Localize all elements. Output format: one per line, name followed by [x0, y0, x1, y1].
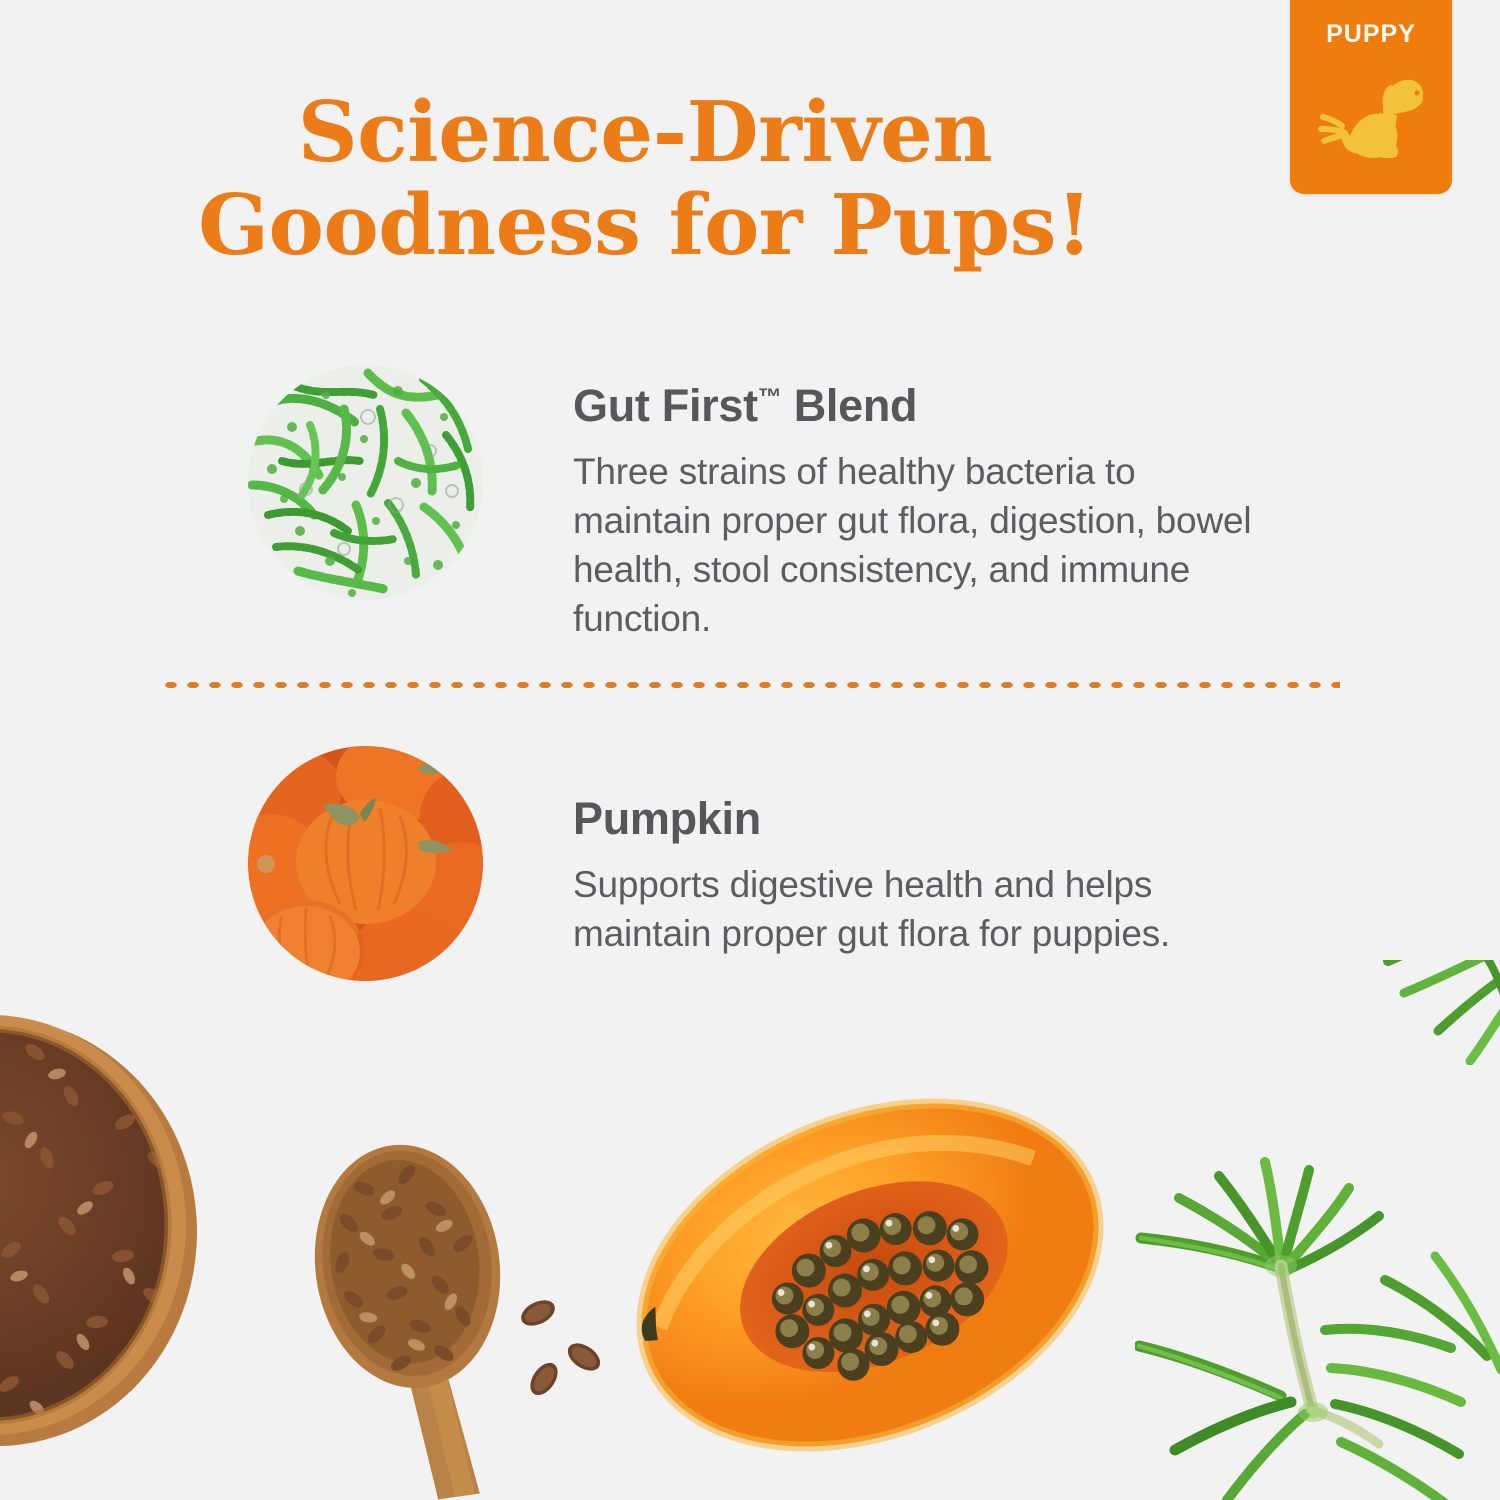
puppy-badge: PUPPY	[1290, 0, 1452, 194]
feature-text-pumpkin: Pumpkin Supports digestive health and he…	[573, 746, 1263, 958]
rosemary-sprigs-image	[1135, 1030, 1500, 1500]
feature-item-pumpkin: Pumpkin Supports digestive health and he…	[0, 746, 1500, 981]
feature-title-suffix: Blend	[782, 380, 918, 431]
scattered-flax-seeds-image	[510, 1295, 620, 1415]
trademark-symbol: ™	[758, 384, 782, 411]
puppy-badge-label: PUPPY	[1326, 22, 1416, 47]
feature-title-main: Pumpkin	[573, 793, 761, 844]
pumpkins-thumbnail	[248, 746, 483, 981]
bacteria-microscope-thumbnail	[248, 365, 483, 600]
flax-seed-bowl-image	[0, 1000, 215, 1450]
papaya-half-image	[615, 1040, 1125, 1500]
sitting-puppy-icon	[1317, 59, 1425, 168]
page-title-line-1: Science-Driven	[298, 83, 993, 181]
bottom-ingredient-imagery	[0, 960, 1500, 1500]
feature-title-gut-first-blend: Gut First™ Blend	[573, 381, 1263, 431]
feature-title-pumpkin: Pumpkin	[573, 794, 1263, 844]
dotted-divider	[160, 679, 1340, 691]
feature-item-gut-first-blend: Gut First™ Blend Three strains of health…	[0, 365, 1500, 643]
feature-body-pumpkin: Supports digestive health and helps main…	[573, 860, 1263, 958]
feature-body-gut-first-blend: Three strains of healthy bacteria to mai…	[573, 447, 1263, 644]
feature-title-main: Gut First	[573, 380, 758, 431]
page-title: Science-Driven Goodness for Pups!	[0, 86, 1290, 272]
feature-text-gut-first-blend: Gut First™ Blend Three strains of health…	[573, 365, 1263, 643]
feature-list: Gut First™ Blend Three strains of health…	[0, 365, 1500, 981]
page-title-line-2: Goodness for Pups!	[0, 179, 1290, 272]
